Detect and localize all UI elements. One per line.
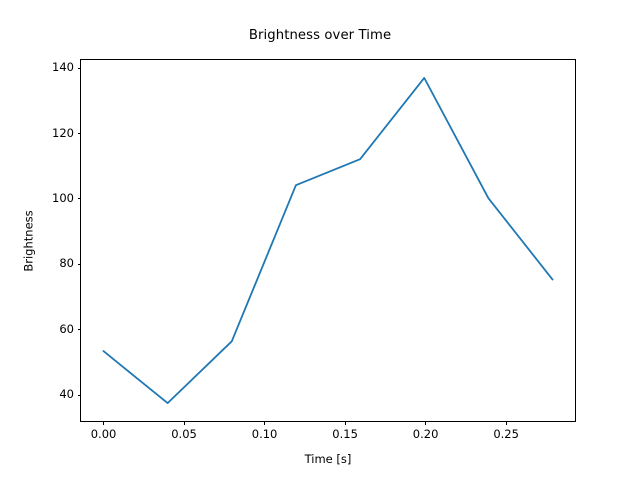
y-tick-label: 40 bbox=[59, 387, 74, 401]
x-tick-label: 0.10 bbox=[252, 427, 278, 441]
plot-frame: 406080100120140 0.000.050.100.150.200.25 bbox=[80, 59, 576, 422]
x-tick-label: 0.20 bbox=[413, 427, 439, 441]
figure-canvas: Brightness over Time Brightness 40608010… bbox=[0, 0, 640, 480]
y-axis-label-text: Brightness bbox=[22, 210, 36, 271]
x-tick-mark bbox=[184, 421, 185, 425]
x-tick-mark bbox=[345, 421, 346, 425]
x-tick-mark bbox=[103, 421, 104, 425]
x-tick-mark bbox=[506, 421, 507, 425]
chart-title: Brightness over Time bbox=[0, 28, 640, 43]
x-tick-label: 0.05 bbox=[171, 427, 197, 441]
x-tick-mark bbox=[425, 421, 426, 425]
y-tick-mark bbox=[78, 329, 82, 330]
plot-area bbox=[81, 60, 575, 421]
y-tick-mark bbox=[78, 395, 82, 396]
brightness-line bbox=[103, 78, 552, 403]
x-axis-label: Time [s] bbox=[80, 452, 576, 466]
x-tick-label: 0.25 bbox=[493, 427, 519, 441]
y-tick-mark bbox=[78, 198, 82, 199]
y-tick-mark bbox=[78, 68, 82, 69]
x-tick-label: 0.00 bbox=[91, 427, 117, 441]
y-tick-label: 60 bbox=[59, 322, 74, 336]
y-tick-label: 80 bbox=[59, 256, 74, 270]
y-axis-label: Brightness bbox=[22, 59, 36, 422]
y-tick-label: 120 bbox=[52, 126, 74, 140]
x-tick-label: 0.15 bbox=[332, 427, 358, 441]
y-tick-mark bbox=[78, 264, 82, 265]
y-tick-label: 100 bbox=[52, 191, 74, 205]
y-tick-label: 140 bbox=[52, 60, 74, 74]
x-tick-mark bbox=[264, 421, 265, 425]
y-tick-mark bbox=[78, 133, 82, 134]
